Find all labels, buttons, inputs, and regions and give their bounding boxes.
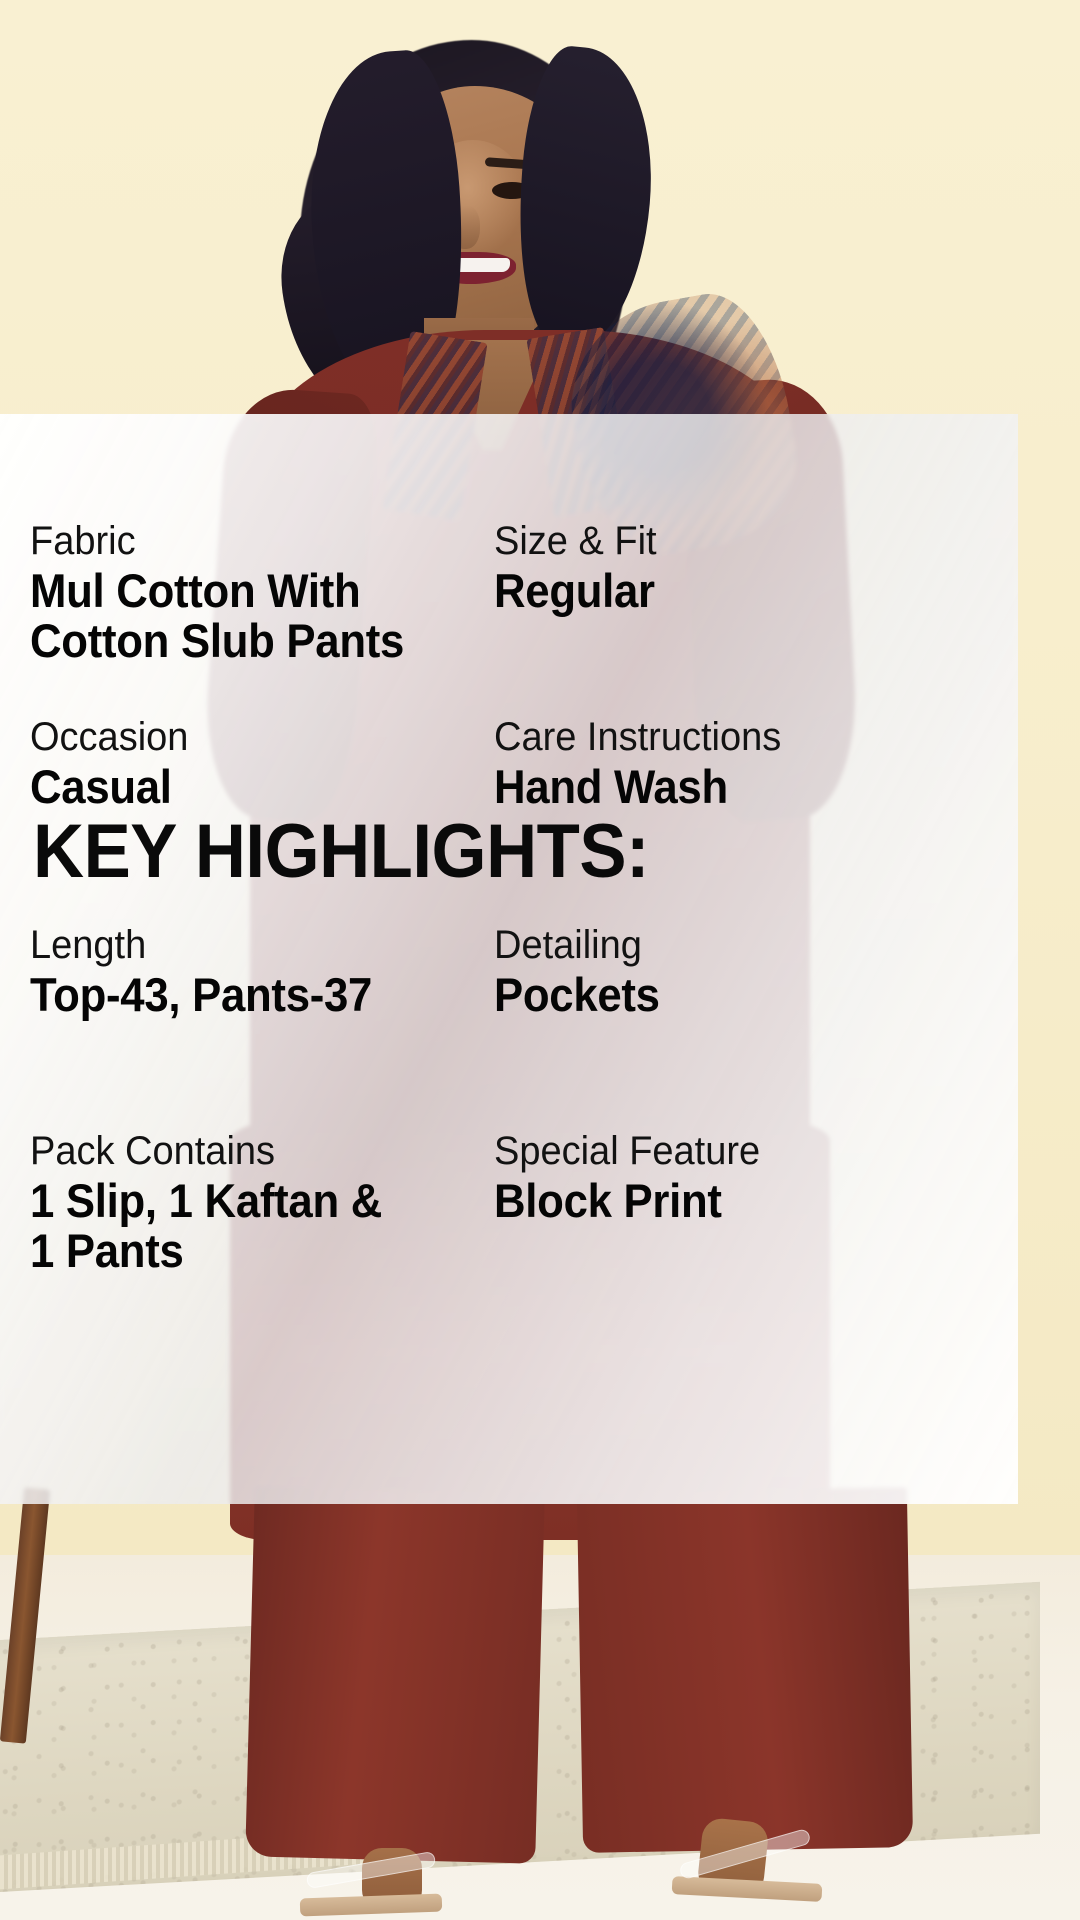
sandal-right (672, 1876, 823, 1902)
key-highlights-panel: KEY HIGHLIGHTS: Fabric Mul Cotton With C… (0, 414, 1018, 1504)
highlight-cell-size-fit: Size & Fit Regular (466, 518, 1018, 714)
highlight-cell-occasion: Occasion Casual (0, 714, 466, 922)
infographic-canvas: KEY HIGHLIGHTS: Fabric Mul Cotton With C… (0, 0, 1080, 1920)
highlight-label: Length (30, 922, 444, 969)
highlight-cell-care-instructions: Care Instructions Hand Wash (466, 714, 1018, 922)
highlight-cell-fabric: Fabric Mul Cotton With Cotton Slub Pants (0, 518, 466, 714)
highlight-cell-special-feature: Special Feature Block Print (466, 1128, 1018, 1328)
highlight-value: 1 Slip, 1 Kaftan & 1 Pants (30, 1176, 435, 1276)
highlight-label: Size & Fit (494, 518, 992, 565)
highlight-label: Special Feature (494, 1128, 992, 1175)
highlight-value: Pockets (494, 970, 982, 1020)
highlight-label: Pack Contains (30, 1128, 444, 1175)
highlight-label: Detailing (494, 922, 992, 969)
highlight-cell-pack-contains: Pack Contains 1 Slip, 1 Kaftan & 1 Pants (0, 1128, 466, 1328)
highlight-value: Regular (494, 566, 982, 616)
highlight-value: Top-43, Pants-37 (30, 970, 435, 1020)
highlight-cell-length: Length Top-43, Pants-37 (0, 922, 466, 1128)
pants-leg-left (245, 1486, 545, 1863)
highlight-row: Pack Contains 1 Slip, 1 Kaftan & 1 Pants… (0, 1128, 1018, 1328)
highlight-value: Mul Cotton With Cotton Slub Pants (30, 566, 435, 666)
highlight-label: Occasion (30, 714, 444, 761)
highlight-row: Occasion Casual Care Instructions Hand W… (0, 714, 1018, 922)
pants-leg-right (577, 1487, 913, 1853)
highlight-value: Casual (30, 762, 435, 812)
highlight-row: Fabric Mul Cotton With Cotton Slub Pants… (0, 518, 1018, 714)
highlight-label: Fabric (30, 518, 444, 565)
highlight-value: Hand Wash (494, 762, 982, 812)
highlight-cell-detailing: Detailing Pockets (466, 922, 1018, 1128)
highlight-value: Block Print (494, 1176, 982, 1226)
sandal-left (300, 1894, 443, 1917)
highlights-grid: Fabric Mul Cotton With Cotton Slub Pants… (0, 518, 1018, 1328)
highlight-row: Length Top-43, Pants-37 Detailing Pocket… (0, 922, 1018, 1128)
highlight-label: Care Instructions (494, 714, 992, 761)
